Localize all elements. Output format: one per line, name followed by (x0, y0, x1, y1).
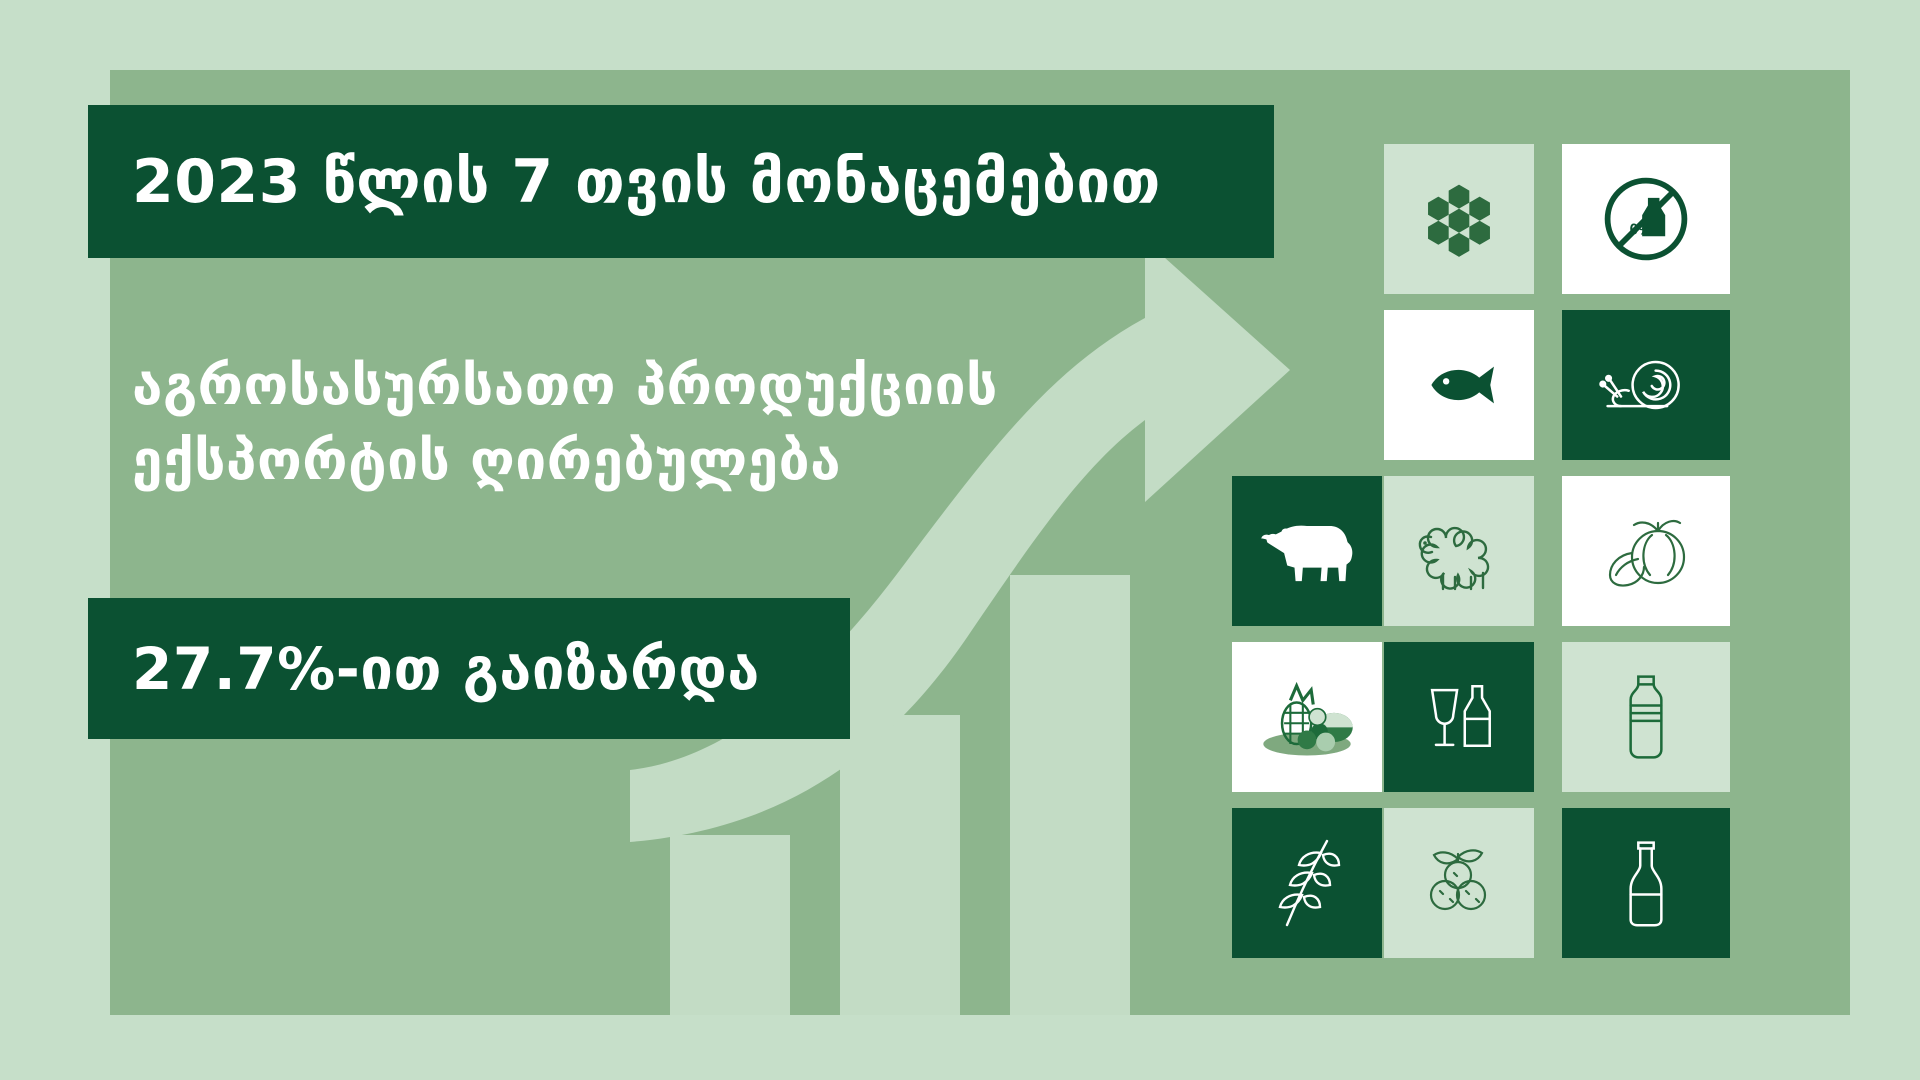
subtitle-line-1: აგროსასურსათო პროდუქციის (132, 348, 1232, 423)
fruits-icon (1255, 665, 1359, 769)
tile-water-bottle (1562, 642, 1730, 792)
tile-herb-sprig (1232, 808, 1382, 958)
headline-text: 2023 წლის 7 თვის მონაცემებით (132, 152, 1161, 212)
tile-wine (1384, 642, 1534, 792)
tile-cow (1232, 476, 1382, 626)
headline-banner: 2023 წლის 7 თვის მონაცემებით (88, 105, 1274, 258)
main-panel: 2023 წლის 7 თვის მონაცემებით აგროსასურსა… (110, 70, 1850, 1015)
subtitle-block: აგროსასურსათო პროდუქციის ექსპორტის ღირებ… (132, 348, 1232, 498)
tile-fruits (1232, 642, 1382, 792)
tile-fish (1384, 310, 1534, 460)
tile-honeycomb (1384, 144, 1534, 294)
honeycomb-icon (1416, 176, 1502, 262)
svg-text:0%: 0% (1630, 221, 1653, 238)
percent-text: 27.7%-ით გაიზარდა (132, 640, 760, 698)
dark-bottle-icon (1598, 835, 1694, 931)
percent-banner: 27.7%-ით გაიზარდა (88, 598, 850, 739)
berries-icon (1409, 833, 1509, 933)
tile-no-alcohol: 0% (1562, 144, 1730, 294)
herb-sprig-icon (1257, 833, 1357, 933)
tile-dark-bottle (1562, 808, 1730, 958)
infographic-canvas: 2023 წლის 7 თვის მონაცემებით აგროსასურსა… (0, 0, 1920, 1080)
subtitle-line-2: ექსპორტის ღირებულება (132, 423, 1232, 498)
icon-grid: 0% (1232, 98, 1832, 978)
tile-berries (1384, 808, 1534, 958)
tile-sheep (1384, 476, 1534, 626)
sheep-icon (1409, 501, 1509, 601)
snail-icon (1598, 337, 1694, 433)
fish-icon (1413, 339, 1505, 431)
wine-icon (1411, 669, 1507, 765)
tile-tomato-melon (1562, 476, 1730, 626)
water-bottle-icon (1598, 669, 1694, 765)
cow-icon (1255, 499, 1359, 603)
no-alcohol-icon: 0% (1598, 171, 1694, 267)
tomato-melon-icon (1596, 501, 1696, 601)
tile-snail (1562, 310, 1730, 460)
